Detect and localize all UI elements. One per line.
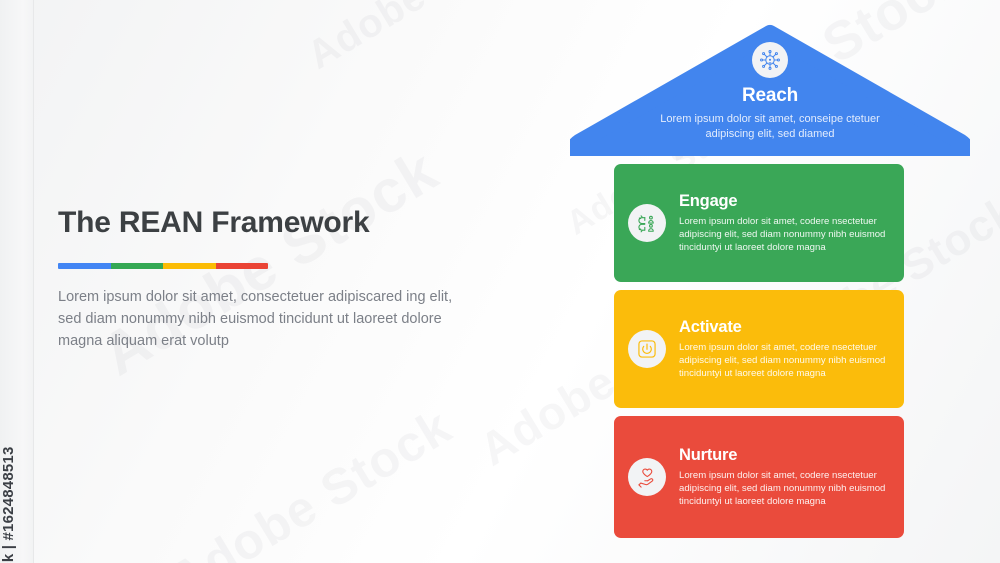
power-button-icon — [628, 330, 666, 368]
watermark-text: Adobe Stock — [160, 397, 461, 563]
accent-rule-segment-green — [111, 263, 164, 269]
page-description: Lorem ipsum dolor sit amet, consectetuer… — [58, 286, 458, 353]
stock-credit-text: Adobe Stock | #1624848513 — [0, 447, 17, 563]
stage-nurture[interactable]: Nurture Lorem ipsum dolor sit amet, code… — [614, 416, 904, 538]
stage-title-reach: Reach — [742, 85, 798, 107]
stock-credit-rail: Adobe Stock | #1624848513 — [0, 0, 34, 563]
stage-description-nurture: Lorem ipsum dolor sit amet, codere nsect… — [679, 469, 890, 509]
stage-engage[interactable]: Engage Lorem ipsum dolor sit amet, coder… — [614, 164, 904, 282]
stage-title-nurture: Nurture — [679, 446, 890, 465]
stage-reach[interactable]: Reach Lorem ipsum dolor sit amet, consei… — [570, 24, 970, 156]
magnet-icon — [628, 204, 666, 242]
accent-rule-segment-yellow — [163, 263, 216, 269]
stage-title-activate: Activate — [679, 318, 890, 337]
stage-activate[interactable]: Activate Lorem ipsum dolor sit amet, cod… — [614, 290, 904, 408]
accent-rule — [58, 263, 268, 269]
watermark-text: Adobe Stock — [300, 0, 542, 79]
accent-rule-segment-red — [216, 263, 269, 269]
stage-description-activate: Lorem ipsum dolor sit amet, codere nsect… — [679, 341, 890, 381]
accent-rule-segment-blue — [58, 263, 111, 269]
stage-title-engage: Engage — [679, 192, 890, 211]
stage-description-reach: Lorem ipsum dolor sit amet, conseipe cte… — [640, 112, 900, 141]
rean-framework-diagram: Reach Lorem ipsum dolor sit amet, consei… — [570, 24, 970, 544]
page-title: The REAN Framework — [58, 206, 478, 241]
hand-heart-icon — [628, 458, 666, 496]
stage-description-engage: Lorem ipsum dolor sit amet, codere nsect… — [679, 215, 890, 255]
intro-block: The REAN Framework Lorem ipsum dolor sit… — [58, 206, 478, 353]
network-reach-icon — [752, 42, 788, 78]
